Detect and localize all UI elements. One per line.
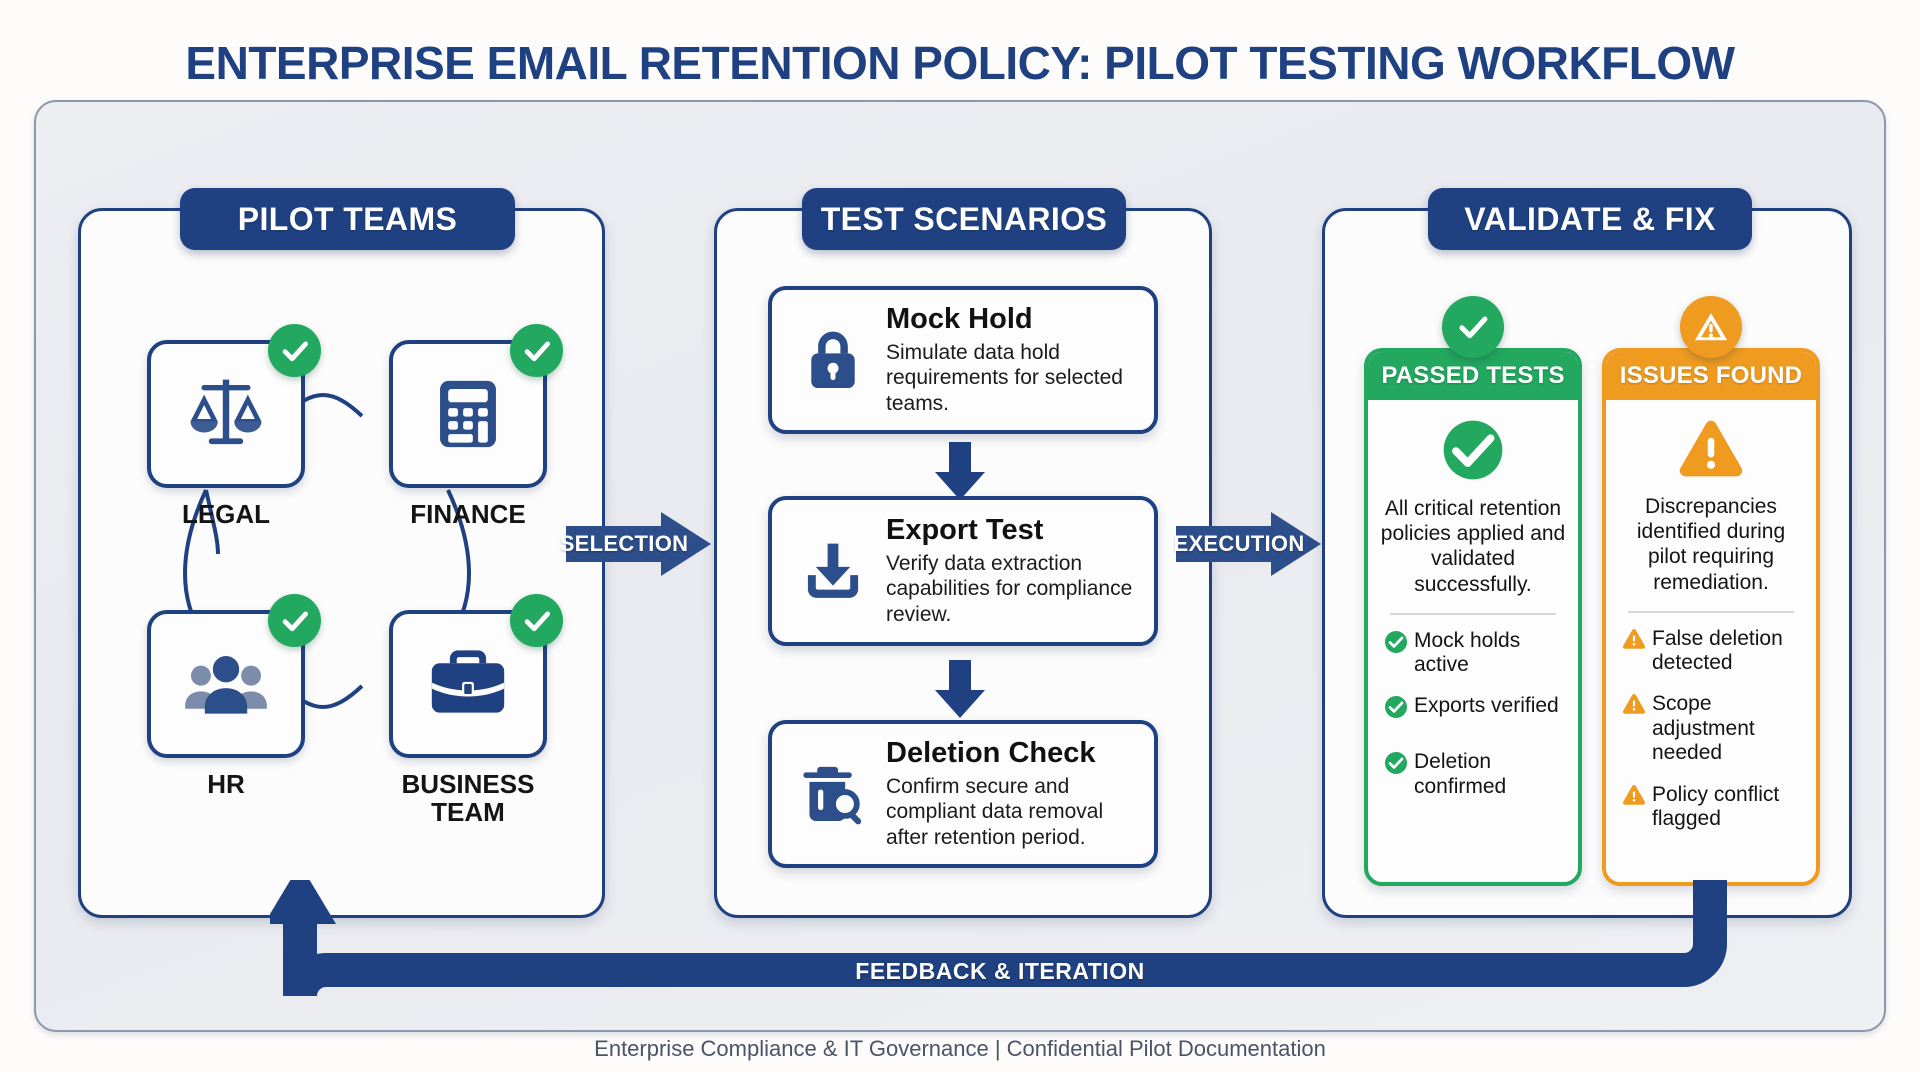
team-item-legal[interactable]: LEGAL [126,340,326,529]
divider [1628,611,1794,613]
team-label: FINANCE [368,501,568,529]
scenario-desc: Simulate data hold requirements for sele… [886,340,1136,417]
trash-search-icon [790,758,876,830]
calculator-icon [429,375,507,453]
scenario-title: Deletion Check [886,738,1136,770]
check-circle-icon [1380,418,1566,482]
list-item: Scope adjustment needed [1622,692,1800,765]
team-label: BUSINESS TEAM [368,771,568,826]
warning-triangle-icon [1622,628,1652,655]
panel-header-validate-fix: VALIDATE & FIX [1428,188,1752,250]
check-circle-icon [268,324,321,377]
page-title: ENTERPRISE EMAIL RETENTION POLICY: PILOT… [0,36,1920,90]
divider [1390,613,1556,615]
team-card[interactable] [147,340,305,488]
scenario-card-mock-hold[interactable]: Mock Hold Simulate data hold requirement… [768,286,1158,434]
list-item-label: False deletion detected [1652,627,1800,676]
people-group-icon [181,639,271,729]
team-item-finance[interactable]: FINANCE [368,340,568,529]
list-item-label: Deletion confirmed [1414,750,1562,799]
list-item: False deletion detected [1622,627,1800,676]
result-item-list: False deletion detected Scope adjustment… [1618,627,1804,832]
scenario-title: Mock Hold [886,304,1136,336]
warning-triangle-icon [1622,693,1652,720]
team-item-business-team[interactable]: BUSINESS TEAM [368,610,568,826]
team-label: HR [126,771,326,799]
scenario-desc: Verify data extraction capabilities for … [886,551,1136,628]
panel-header-pilot-teams: PILOT TEAMS [180,188,515,250]
list-item: Deletion confirmed [1384,750,1562,799]
scenario-card-export-test[interactable]: Export Test Verify data extraction capab… [768,496,1158,646]
briefcase-icon [425,641,511,727]
team-label: LEGAL [126,501,326,529]
arrow-right-selection-icon [566,512,711,581]
list-item: Policy conflict flagged [1622,783,1800,832]
list-item: Mock holds active [1384,629,1562,678]
team-grid: LEGAL FINANCE [118,340,568,860]
scales-icon [183,371,269,457]
warning-triangle-icon [1622,784,1652,811]
warning-triangle-icon [1618,418,1804,480]
panel-header-test-scenarios: TEST SCENARIOS [802,188,1126,250]
result-summary: All critical retention policies applied … [1380,496,1566,597]
warning-triangle-icon [1680,296,1742,358]
result-summary: Discrepancies identified during pilot re… [1618,494,1804,595]
list-item-label: Mock holds active [1414,629,1562,678]
list-item-label: Scope adjustment needed [1652,692,1800,765]
check-circle-icon [1384,630,1414,659]
download-icon [790,536,876,606]
check-circle-icon [510,324,563,377]
scenario-title: Export Test [886,515,1136,547]
arrow-right-execution-icon [1176,512,1321,581]
result-column-header: PASSED TESTS [1368,352,1578,400]
team-card[interactable] [147,610,305,758]
result-item-list: Mock holds active Exports verified Delet… [1380,629,1566,799]
connector-label-feedback: FEEDBACK & ITERATION [790,958,1210,985]
list-item-label: Policy conflict flagged [1652,783,1800,832]
list-item-label: Exports verified [1414,694,1559,718]
arrow-down-icon [925,660,995,723]
scenario-card-deletion-check[interactable]: Deletion Check Confirm secure and compli… [768,720,1158,868]
lock-icon [790,327,876,393]
team-item-hr[interactable]: HR [126,610,326,799]
scenario-desc: Confirm secure and compliant data remova… [886,774,1136,851]
check-circle-icon [268,594,321,647]
team-card[interactable] [389,610,547,758]
footer-note: Enterprise Compliance & IT Governance | … [0,1036,1920,1062]
result-column-issues-found: ISSUES FOUND Discrepancies identified du… [1602,348,1820,886]
result-column-header: ISSUES FOUND [1606,352,1816,400]
check-circle-icon [1384,751,1414,780]
check-circle-icon [510,594,563,647]
feedback-loop-arrow-icon [270,880,1740,1020]
result-column-passed-tests: PASSED TESTS All critical retention poli… [1364,348,1582,886]
check-circle-icon [1442,296,1504,358]
check-circle-icon [1384,695,1414,724]
team-card[interactable] [389,340,547,488]
list-item: Exports verified [1384,694,1562,724]
